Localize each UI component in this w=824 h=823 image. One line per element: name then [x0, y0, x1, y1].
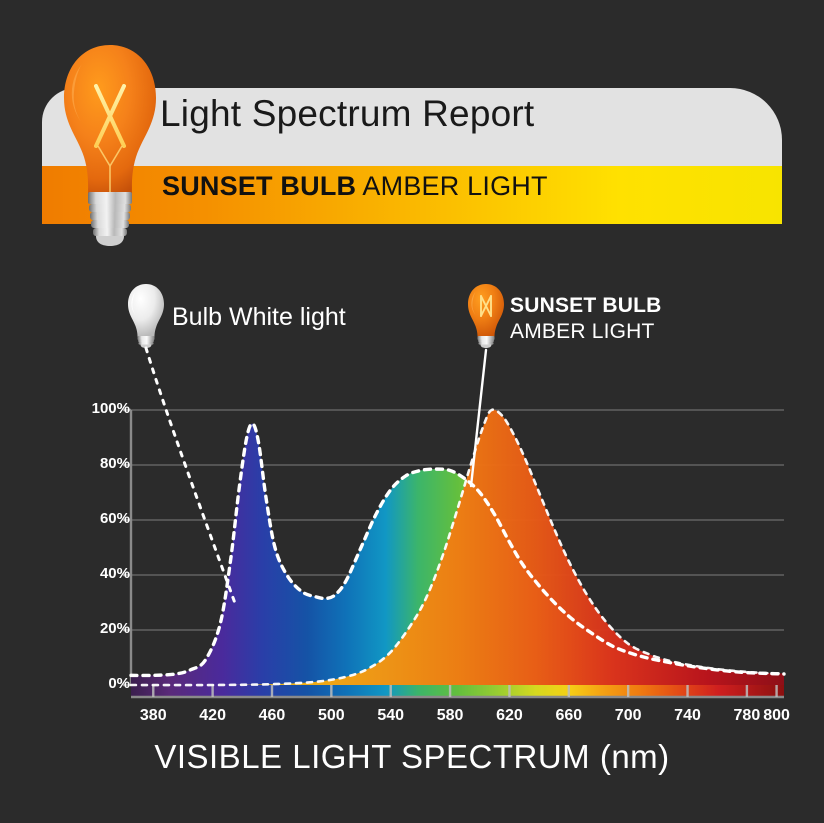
x-tick-label: 700 [598, 707, 658, 725]
x-tick-label: 620 [479, 707, 539, 725]
x-tick-label: 420 [183, 707, 243, 725]
x-tick-label: 500 [301, 707, 361, 725]
x-tick-label: 740 [658, 707, 718, 725]
x-tick-label: 540 [361, 707, 421, 725]
x-tick-label: 800 [747, 707, 807, 725]
x-tick-label: 460 [242, 707, 302, 725]
x-tick-label: 380 [123, 707, 183, 725]
x-axis-tick-labels: 380420460500540580620660700740780800 [0, 0, 824, 823]
x-tick-label: 660 [539, 707, 599, 725]
x-tick-label: 580 [420, 707, 480, 725]
x-axis-title: VISIBLE LIGHT SPECTRUM (nm) [0, 738, 824, 776]
